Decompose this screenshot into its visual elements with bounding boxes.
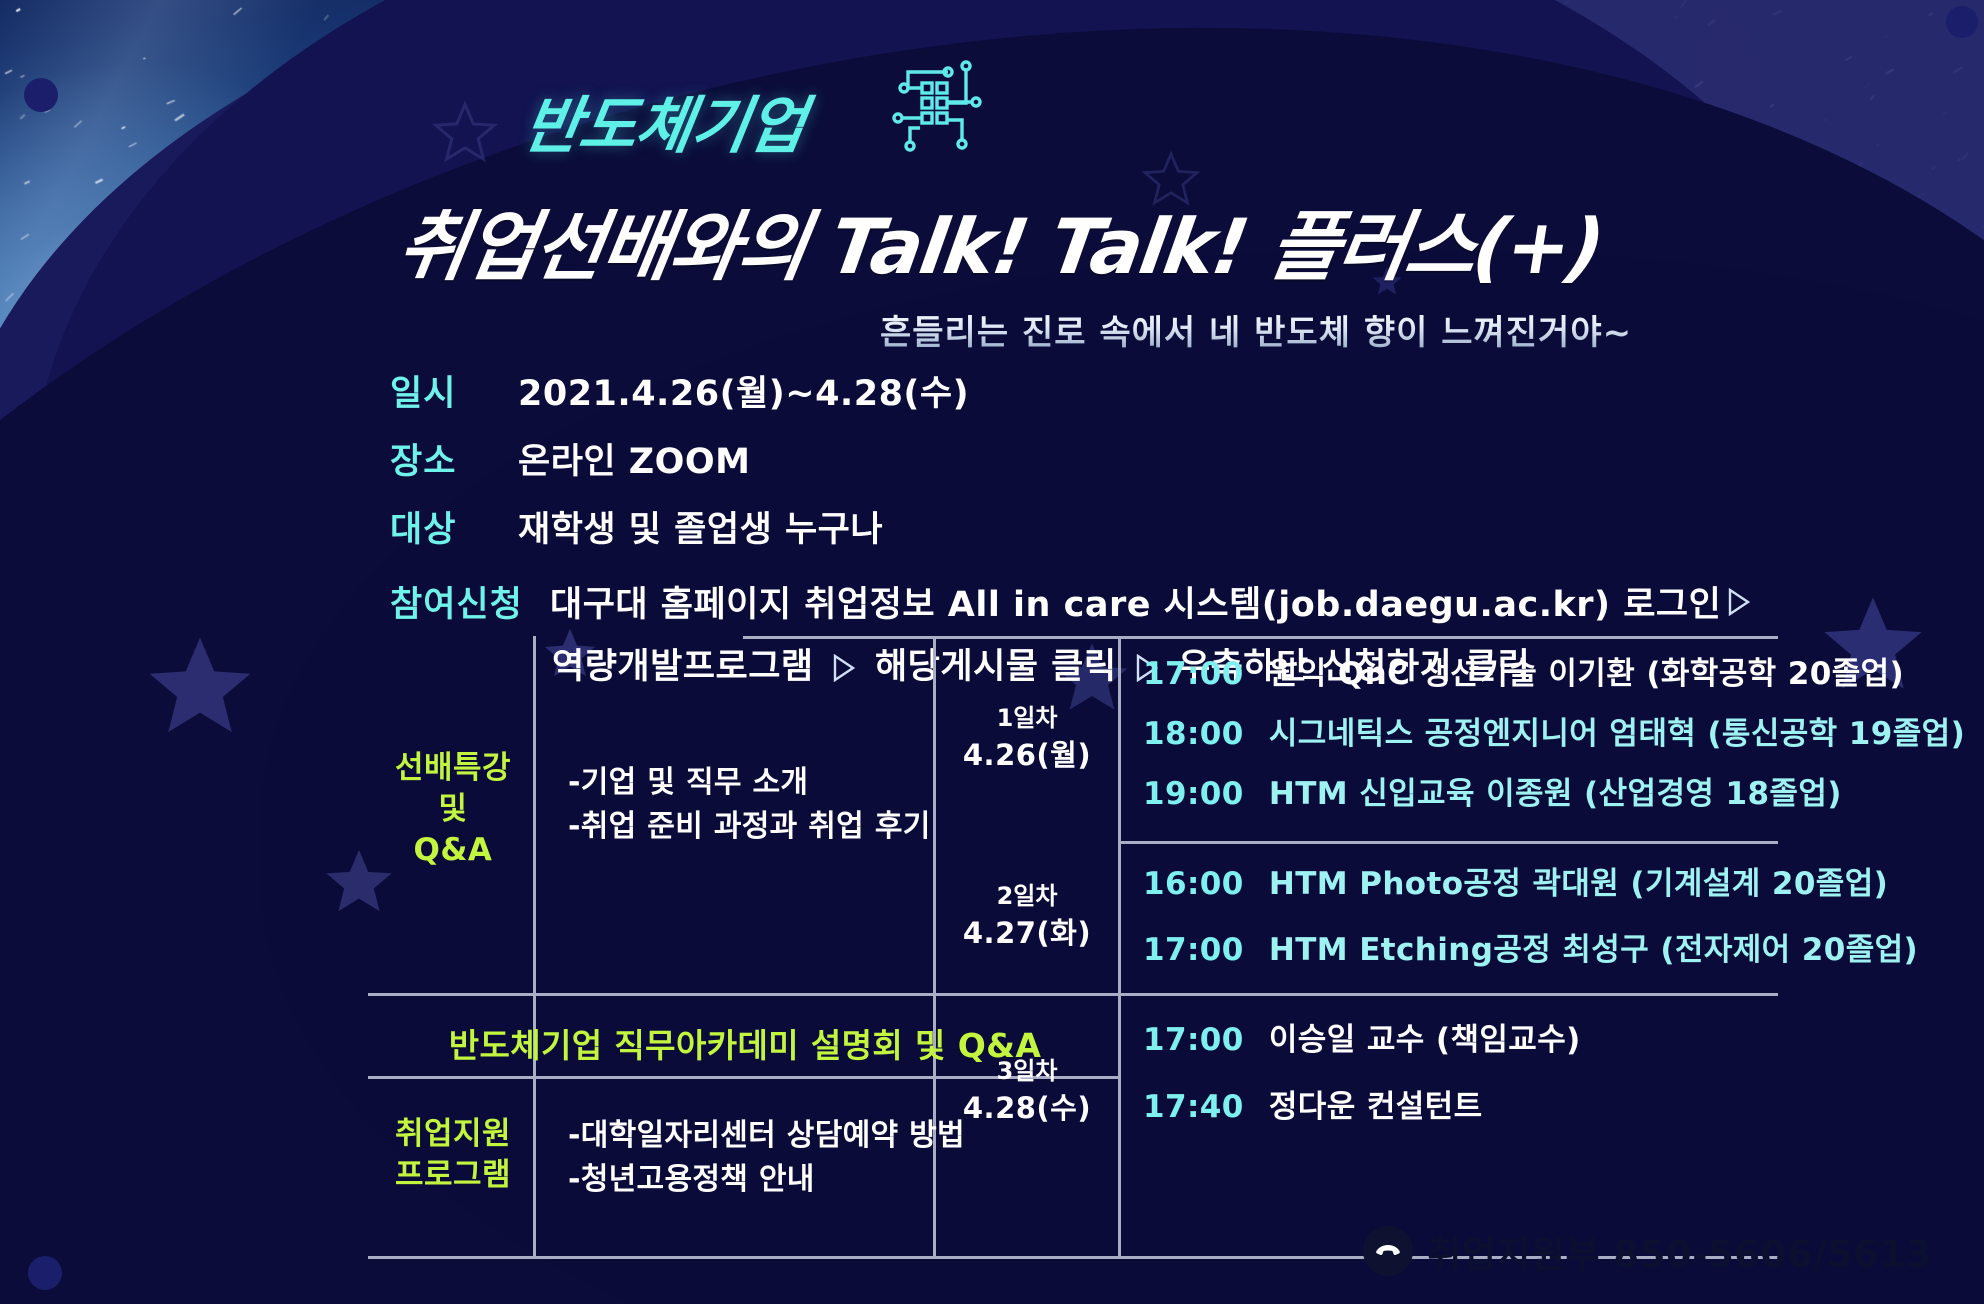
page-tagline: 흔들리는 진로 속에서 네 반도체 향이 느껴진거야~	[880, 305, 1632, 354]
description-senior-talk-line2: -취업 준비 과정과 취업 후기	[568, 805, 931, 849]
session-time: 17:00	[1143, 1022, 1244, 1058]
day-1-number: 1일차	[943, 701, 1111, 735]
poster-canvas: 반도체기업	[0, 0, 1984, 1304]
page-kicker: 반도체기업	[518, 75, 812, 165]
session-row: 17:40 정다운 컨설턴트	[1143, 1081, 1483, 1126]
circuit-chip-icon	[880, 58, 992, 162]
info-value-place: 온라인 ZOOM	[518, 433, 751, 484]
day-3-number: 3일차	[943, 1054, 1111, 1088]
day-cell-1: 1일차 4.26(월)	[943, 701, 1111, 776]
triangle-right-icon	[832, 654, 856, 682]
day-3-date: 4.28(수)	[943, 1088, 1111, 1129]
day-2-date: 4.27(화)	[943, 913, 1111, 954]
session-row: 18:00 시그네틱스 공정엔지니어 엄태혁 (통신공학 19졸업)	[1143, 708, 1965, 753]
day-2-number: 2일차	[943, 879, 1111, 913]
info-label-date: 일시	[390, 365, 518, 416]
session-text: 원익 QnC 생산기술 이기환 (화학공학 20졸업)	[1269, 656, 1904, 692]
category-senior-talk-line3: Q&A	[378, 830, 528, 871]
footer-contact: 취업지원부 850-5606/5613	[1363, 1224, 1932, 1278]
table-rule-vertical	[1118, 636, 1121, 1256]
table-rule-horizontal	[368, 993, 1778, 996]
day-cell-2: 2일차 4.27(화)	[943, 879, 1111, 954]
session-text: HTM Etching공정 최성구 (전자제어 20졸업)	[1269, 932, 1918, 968]
info-row-date: 일시 2021.4.26(월)~4.28(수)	[390, 365, 1757, 416]
category-senior-talk-line2: 및	[378, 789, 528, 830]
session-text: 정다운 컨설턴트	[1269, 1089, 1483, 1125]
info-value-audience: 재학생 및 졸업생 누구나	[518, 501, 883, 552]
session-text: HTM Photo공정 곽대원 (기계설계 20졸업)	[1269, 866, 1888, 902]
session-row: 17:00 HTM Etching공정 최성구 (전자제어 20졸업)	[1143, 924, 1918, 969]
page-title: 취업선배와의 Talk! Talk! 플러스(+)	[391, 185, 1611, 295]
description-job-support-line1: -대학일자리센터 상담예약 방법	[568, 1114, 965, 1158]
day-cell-3: 3일차 4.28(수)	[943, 1054, 1111, 1129]
session-text: 시그네틱스 공정엔지니어 엄태혁 (통신공학 19졸업)	[1269, 716, 1965, 752]
category-senior-talk-line1: 선배특강	[378, 748, 528, 789]
table-rule-horizontal	[743, 636, 1778, 639]
info-row-apply: 참여신청 대구대 홈페이지 취업정보 All in care 시스템(job.d…	[390, 576, 1757, 627]
session-time: 17:40	[1143, 1089, 1244, 1125]
event-info-block: 일시 2021.4.26(월)~4.28(수) 장소 온라인 ZOOM 대상 재…	[390, 365, 1757, 689]
table-rule-vertical	[533, 636, 536, 993]
session-time: 17:00	[1143, 932, 1244, 968]
description-senior-talk-line1: -기업 및 직무 소개	[568, 761, 931, 805]
session-row: 17:00 이승일 교수 (책임교수)	[1143, 1014, 1581, 1059]
info-label-place: 장소	[390, 433, 518, 484]
poster-content: 반도체기업	[0, 0, 1984, 1304]
description-job-support: -대학일자리센터 상담예약 방법 -청년고용정책 안내	[568, 1114, 965, 1201]
session-text: 이승일 교수 (책임교수)	[1269, 1022, 1581, 1058]
session-time: 17:00	[1143, 656, 1244, 692]
info-label-apply: 참여신청	[390, 576, 550, 627]
apply-step-1: 역량개발프로그램	[552, 647, 814, 687]
info-value-apply-line1: 대구대 홈페이지 취업정보 All in care 시스템(job.daegu.…	[550, 576, 1721, 627]
table-rule-horizontal	[1118, 841, 1778, 844]
info-value-date: 2021.4.26(월)~4.28(수)	[518, 365, 969, 416]
session-time: 16:00	[1143, 866, 1244, 902]
session-text: HTM 신입교육 이종원 (산업경영 18졸업)	[1269, 776, 1842, 812]
phone-icon	[1363, 1226, 1413, 1276]
session-time: 18:00	[1143, 716, 1244, 752]
session-time: 19:00	[1143, 776, 1244, 812]
day-1-date: 4.26(월)	[943, 735, 1111, 776]
info-row-place: 장소 온라인 ZOOM	[390, 433, 1757, 484]
triangle-right-icon	[1727, 588, 1751, 616]
info-label-audience: 대상	[390, 501, 518, 552]
description-senior-talk: -기업 및 직무 소개 -취업 준비 과정과 취업 후기	[568, 761, 931, 848]
description-job-support-line2: -청년고용정책 안내	[568, 1158, 965, 1202]
footer-contact-text: 취업지원부 850-5606/5613	[1427, 1224, 1932, 1278]
session-row: 19:00 HTM 신입교육 이종원 (산업경영 18졸업)	[1143, 768, 1842, 813]
category-senior-talk: 선배특강 및 Q&A	[378, 748, 528, 871]
info-row-audience: 대상 재학생 및 졸업생 누구나	[390, 501, 1757, 552]
apply-step-2: 해당게시물 클릭	[875, 647, 1117, 687]
session-row: 17:00 원익 QnC 생산기술 이기환 (화학공학 20졸업)	[1143, 648, 1904, 693]
category-job-support-line1: 취업지원	[378, 1114, 528, 1155]
category-job-support: 취업지원 프로그램	[378, 1114, 528, 1196]
session-row: 16:00 HTM Photo공정 곽대원 (기계설계 20졸업)	[1143, 858, 1888, 903]
category-job-support-line2: 프로그램	[378, 1155, 528, 1196]
